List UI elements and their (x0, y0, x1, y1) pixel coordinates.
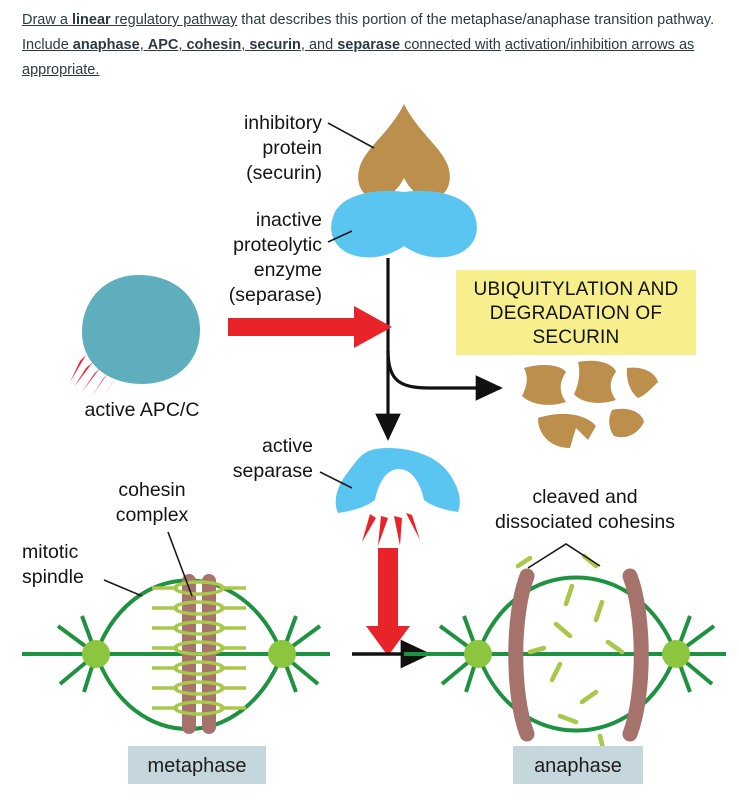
active-apc-complex: active APC/C (70, 275, 200, 421)
inactive-separase-shape (331, 191, 477, 257)
pathway-diagram: inhibitory protein (securin) inactive pr… (0, 96, 739, 807)
kinetochore-fibers-metaphase (152, 588, 246, 708)
centrosome-left-anaphase (464, 640, 492, 668)
label-spindle-line2: spindle (22, 566, 84, 588)
ubiquitylation-box-line3: SECURIN (533, 327, 620, 348)
label-cleaved-line2: dissociated cohesins (495, 511, 675, 533)
phase-label-anaphase-text: anaphase (534, 755, 622, 777)
branch-arrow-to-fragments (388, 351, 500, 388)
ubiquitylation-box-line1: UBIQUITYLATION AND (474, 279, 679, 300)
apc-shape (82, 275, 200, 384)
leader-cleaved-cohesins (528, 544, 600, 568)
label-cohesin-line2: complex (116, 504, 189, 526)
label-securin-line1: inhibitory (244, 112, 322, 134)
label-securin-line2: protein (262, 137, 322, 159)
question-line1-part3: regulatory pathway (111, 12, 238, 28)
leader-spindle (104, 580, 142, 596)
leader-securin (328, 123, 374, 148)
centrosome-right-metaphase (268, 640, 296, 668)
label-inactive-separase-line2: proteolytic (233, 234, 322, 256)
question-prompt: Draw a linear regulatory pathway that de… (22, 8, 722, 83)
label-mitotic-spindle: mitotic spindle (22, 541, 142, 596)
question-line1-part1: Draw a (22, 12, 72, 28)
question-line2-tail: connected with (400, 37, 501, 53)
question-sep1: , (140, 37, 148, 53)
question-line2-include: Include (22, 37, 73, 53)
label-active-separase-line2: separase (233, 460, 313, 482)
label-securin: inhibitory protein (securin) (244, 112, 374, 184)
label-inactive-separase-line1: inactive (256, 209, 322, 231)
active-separase-rays (362, 513, 420, 546)
label-spindle-line1: mitotic (22, 541, 79, 563)
question-keyword-anaphase: anaphase (73, 37, 140, 53)
label-active-separase-line1: active (262, 435, 313, 457)
question-keyword-securin: securin (249, 37, 301, 53)
separase-cleavage-arrow (366, 548, 410, 656)
question-keyword-linear: linear (72, 12, 111, 28)
centrosome-left-metaphase (82, 640, 110, 668)
question-keyword-apc: APC (148, 37, 179, 53)
question-line2-part1: pathway. (657, 12, 714, 28)
label-cohesin-complex: cohesin complex (116, 479, 192, 596)
metaphase-spindle (22, 574, 330, 734)
securin-fragments (522, 361, 658, 448)
question-line1-part4: that describes this portion of the metap… (237, 12, 653, 28)
label-inactive-separase-line3: enzyme (254, 259, 322, 281)
ubiquitylation-box: UBIQUITYLATION AND DEGRADATION OF SECURI… (456, 270, 696, 355)
centrosome-right-anaphase (662, 640, 690, 668)
anaphase-spindle (404, 556, 726, 752)
phase-label-metaphase-text: metaphase (148, 755, 247, 777)
label-cleaved-line1: cleaved and (532, 486, 637, 508)
active-separase-shape (336, 448, 460, 513)
phase-label-metaphase: metaphase (128, 746, 266, 784)
label-securin-line3: (securin) (246, 162, 322, 184)
phase-label-anaphase: anaphase (513, 746, 643, 784)
question-keyword-cohesin: cohesin (186, 37, 241, 53)
label-inactive-separase-line4: (separase) (229, 284, 322, 306)
label-cleaved-cohesins: cleaved and dissociated cohesins (495, 486, 675, 568)
securin-separase-complex (331, 104, 477, 257)
apc-activation-arrow (228, 306, 392, 348)
securin-shape (358, 104, 450, 199)
question-keyword-separase: separase (337, 37, 400, 53)
label-active-apc: active APC/C (85, 399, 200, 421)
label-cohesin-line1: cohesin (118, 479, 185, 501)
ubiquitylation-box-line2: DEGRADATION OF (490, 303, 662, 324)
active-separase-complex: active separase (233, 435, 460, 546)
question-sep4: , and (301, 37, 337, 53)
